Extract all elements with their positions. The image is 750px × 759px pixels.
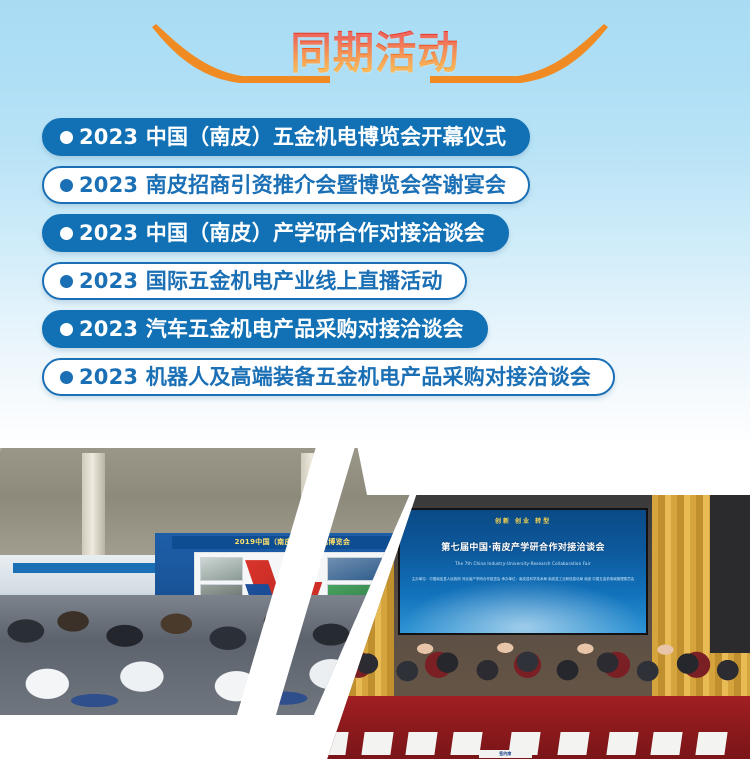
bullet-dot-icon: [60, 371, 73, 384]
screen-thumbnail: [200, 557, 243, 581]
header: 同期活动: [0, 18, 750, 98]
page-title: 同期活动: [23, 26, 728, 82]
activity-item-6[interactable]: 2023 机器人及高端装备五金机电产品采购对接洽谈会: [42, 358, 615, 396]
signing-document: [317, 732, 349, 755]
signing-document: [695, 732, 727, 755]
activity-item-1[interactable]: 2023 中国（南皮）五金机电博览会开幕仪式: [42, 118, 530, 156]
name-card: 签约席: [479, 750, 532, 759]
bullet-dot-icon: [60, 179, 73, 192]
activity-label: 2023 中国（南皮）产学研合作对接洽谈会: [79, 221, 485, 245]
booth-banner-strip: [13, 563, 155, 574]
signing-document: [650, 732, 682, 755]
activity-list: 2023 中国（南皮）五金机电博览会开幕仪式 2023 南皮招商引资推介会暨博览…: [0, 118, 750, 406]
bullet-dot-icon: [60, 227, 73, 240]
screen-top-slogan: 创新 创业 转型: [400, 516, 645, 525]
bullet-dot-icon: [60, 275, 73, 288]
signing-document: [450, 732, 482, 755]
bullet-dot-icon: [60, 131, 73, 144]
activity-label: 2023 中国（南皮）五金机电博览会开幕仪式: [79, 125, 506, 149]
signing-document: [406, 732, 438, 755]
screen-english-subtitle: The 7th China Industry-University-Resear…: [400, 561, 645, 566]
screen-organizer-text: 主办单位：中国南皮县人民政府 河北省产学研合作促进会 承办单位：南皮县科学技术局…: [400, 576, 645, 582]
signing-document: [557, 732, 589, 755]
activity-label: 2023 汽车五金机电产品采购对接洽谈会: [79, 317, 464, 341]
activity-item-5[interactable]: 2023 汽车五金机电产品采购对接洽谈会: [42, 310, 488, 348]
stage-banner-text: 2019中国（南皮）五金机电博览会: [172, 536, 413, 549]
photo-collage: 2019中国（南皮）五金机电博览会 创新 创业: [0, 440, 750, 759]
led-wall-screen: 创新 创业 转型 第七届中国·南皮产学研合作对接洽谈会 The 7th Chin…: [398, 508, 647, 635]
red-carpet-table: 签约席: [305, 696, 750, 759]
activity-item-2[interactable]: 2023 南皮招商引资推介会暨博览会答谢宴会: [42, 166, 530, 204]
screen-thumbnail: [327, 557, 383, 581]
signing-document: [361, 732, 393, 755]
activity-item-4[interactable]: 2023 国际五金机电产业线上直播活动: [42, 262, 467, 300]
poster-root: 同期活动 2023 中国（南皮）五金机电博览会开幕仪式 2023 南皮招商引资推…: [0, 0, 750, 759]
signing-document: [606, 732, 638, 755]
bullet-dot-icon: [60, 323, 73, 336]
activity-item-3[interactable]: 2023 中国（南皮）产学研合作对接洽谈会: [42, 214, 509, 252]
activity-label: 2023 南皮招商引资推介会暨博览会答谢宴会: [79, 173, 506, 197]
screen-main-title: 第七届中国·南皮产学研合作对接洽谈会: [400, 540, 645, 553]
activity-label: 2023 机器人及高端装备五金机电产品采购对接洽谈会: [79, 365, 591, 389]
activity-label: 2023 国际五金机电产业线上直播活动: [79, 269, 443, 293]
